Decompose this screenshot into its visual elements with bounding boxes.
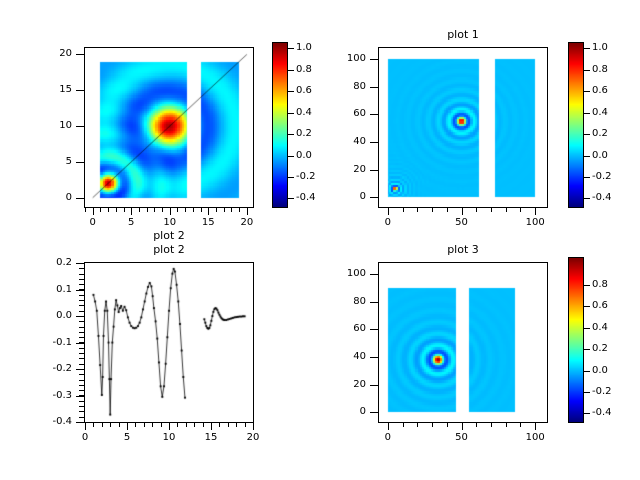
- minor-tick-x: [100, 208, 101, 212]
- minor-tick-y: [79, 406, 84, 407]
- minor-tick-y: [79, 311, 84, 312]
- colorbar-tick-label: 0.4: [592, 322, 608, 333]
- colorbar-tick: [584, 306, 590, 307]
- minor-tick-x: [85, 208, 86, 212]
- minor-tick-x: [216, 208, 217, 212]
- minor-tick-x: [228, 423, 229, 427]
- colorbar-tick-label: -0.4: [296, 192, 316, 203]
- colorbar-tick-label: -0.2: [592, 386, 612, 397]
- y-tick-label: -0.3: [32, 390, 72, 401]
- major-tick-y: [76, 343, 84, 344]
- colorbar-top-right: [568, 42, 584, 208]
- major-tick-y: [76, 263, 84, 264]
- major-tick-y: [370, 329, 378, 330]
- x-tick-label: 10: [149, 432, 189, 443]
- minor-tick-y: [79, 337, 84, 338]
- colorbar-top-left: [272, 42, 288, 208]
- minor-tick-y: [79, 401, 84, 402]
- major-tick-y: [370, 302, 378, 303]
- y-tick-label: 60: [326, 108, 366, 119]
- minor-tick-x: [186, 423, 187, 427]
- major-tick-x: [170, 208, 171, 215]
- minor-tick-y: [79, 364, 84, 365]
- minor-tick-x: [245, 423, 246, 427]
- minor-tick-x: [447, 208, 448, 212]
- minor-tick-x: [203, 423, 204, 427]
- y-tick-label: 0.2: [32, 257, 72, 268]
- minor-tick-y: [79, 348, 84, 349]
- minor-tick-x: [144, 423, 145, 427]
- minor-tick-y: [79, 358, 84, 359]
- line-chart-bottom-left: [85, 263, 253, 422]
- colorbar-tick-label: 0.0: [592, 365, 608, 376]
- minor-tick-y: [79, 411, 84, 412]
- x-tick-label: 0: [73, 217, 113, 228]
- minor-tick-x: [219, 423, 220, 427]
- colorbar-tick-label: 0.4: [296, 107, 312, 118]
- minor-tick-x: [147, 208, 148, 212]
- major-tick-y: [370, 87, 378, 88]
- minor-tick-x: [201, 208, 202, 212]
- colorbar-tick: [584, 349, 590, 350]
- major-tick-x: [127, 423, 128, 430]
- colorbar-tick: [584, 91, 590, 92]
- y-tick-label: 60: [326, 323, 366, 334]
- x-tick-label: 20: [233, 432, 273, 443]
- major-tick-y: [76, 54, 84, 55]
- colorbar-tick-label: 0.6: [592, 300, 608, 311]
- colorbar-tick: [584, 392, 590, 393]
- y-tick-label: 100: [326, 53, 366, 64]
- minor-tick-y: [79, 279, 84, 280]
- major-tick-y: [370, 170, 378, 171]
- minor-tick-y: [79, 390, 84, 391]
- minor-tick-x: [177, 208, 178, 212]
- colorbar-tick-label: 1.0: [592, 42, 608, 53]
- axes-frame-bottom-right: [378, 262, 548, 423]
- y-tick-label: 40: [326, 136, 366, 147]
- major-tick-y: [76, 90, 84, 91]
- minor-tick-x: [506, 208, 507, 212]
- major-tick-y: [76, 162, 84, 163]
- minor-tick-y: [79, 284, 84, 285]
- y-tick-label: -0.2: [32, 363, 72, 374]
- major-tick-x: [535, 423, 536, 430]
- minor-tick-y: [79, 385, 84, 386]
- x-tick-label: 50: [442, 217, 482, 228]
- minor-tick-y: [79, 332, 84, 333]
- minor-tick-x: [154, 208, 155, 212]
- colorbar-tick-label: 0.8: [592, 279, 608, 290]
- colorbar-tick-label: 0.2: [592, 128, 608, 139]
- colorbar-tick-label: -0.2: [592, 171, 612, 182]
- axes-frame-bottom-left: [84, 262, 254, 423]
- minor-tick-y: [79, 321, 84, 322]
- colorbar-tick: [288, 134, 294, 135]
- minor-tick-x: [194, 423, 195, 427]
- x-tick-label: 5: [107, 432, 147, 443]
- minor-tick-x: [116, 208, 117, 212]
- colorbar-tick: [288, 48, 294, 49]
- major-tick-x: [462, 423, 463, 430]
- colorbar-tick-label: 0.8: [296, 64, 312, 75]
- y-tick-label: 0: [326, 191, 366, 202]
- major-tick-y: [370, 274, 378, 275]
- major-tick-y: [76, 369, 84, 370]
- colorbar-tick: [288, 177, 294, 178]
- minor-tick-x: [93, 423, 94, 427]
- minor-tick-x: [231, 208, 232, 212]
- colorbar-tick: [584, 177, 590, 178]
- x-tick-label: 0: [368, 432, 408, 443]
- y-tick-label: 15: [32, 84, 72, 95]
- major-tick-y: [76, 422, 84, 423]
- colorbar-tick: [584, 371, 590, 372]
- major-tick-x: [85, 423, 86, 430]
- minor-tick-x: [491, 208, 492, 212]
- colorbar-tick: [584, 413, 590, 414]
- minor-tick-x: [119, 423, 120, 427]
- x-tick-label: 0: [368, 217, 408, 228]
- major-tick-x: [208, 208, 209, 215]
- colorbar-tick-label: 0.6: [592, 85, 608, 96]
- minor-tick-y: [79, 380, 84, 381]
- minor-tick-x: [417, 208, 418, 212]
- colorbar-tick-label: 0.4: [592, 107, 608, 118]
- major-tick-x: [253, 423, 254, 430]
- major-tick-x: [462, 208, 463, 215]
- x-tick-label: 0: [65, 432, 105, 443]
- y-tick-label: 80: [326, 296, 366, 307]
- colorbar-tick-label: 0.2: [592, 343, 608, 354]
- y-tick-label: 10: [32, 120, 72, 131]
- y-tick-label: 20: [32, 48, 72, 59]
- panel-top-right: 050100020406080100 plot 1 1.00.80.60.40.…: [320, 0, 640, 240]
- minor-tick-y: [79, 295, 84, 296]
- colorbar-tick-label: 1.0: [296, 42, 312, 53]
- minor-tick-x: [506, 423, 507, 427]
- y-tick-label: 0: [326, 406, 366, 417]
- major-tick-y: [76, 198, 84, 199]
- minor-tick-x: [520, 208, 521, 212]
- y-tick-label: -0.4: [32, 416, 72, 427]
- colorbar-tick: [584, 328, 590, 329]
- minor-tick-x: [520, 423, 521, 427]
- minor-tick-x: [177, 423, 178, 427]
- major-tick-x: [388, 423, 389, 430]
- y-tick-label: -0.1: [32, 337, 72, 348]
- minor-tick-y: [79, 417, 84, 418]
- colorbar-tick: [288, 91, 294, 92]
- minor-tick-y: [79, 300, 84, 301]
- minor-tick-x: [152, 423, 153, 427]
- y-tick-label: 20: [326, 164, 366, 175]
- x-tick-label: 100: [515, 217, 555, 228]
- major-tick-y: [76, 290, 84, 291]
- colorbar-bottom-right: [568, 257, 584, 423]
- colorbar-tick: [288, 198, 294, 199]
- colorbar-tick-label: 0.2: [296, 128, 312, 139]
- heatmap-image-top-right: [379, 48, 547, 207]
- panel-bottom-left: 051015200.20.10.0-0.1-0.2-0.3-0.4 plot 2: [0, 240, 320, 480]
- minor-tick-x: [239, 208, 240, 212]
- minor-tick-x: [476, 208, 477, 212]
- minor-tick-x: [110, 423, 111, 427]
- y-tick-label: 0.1: [32, 284, 72, 295]
- y-tick-label: 20: [326, 379, 366, 390]
- minor-tick-x: [193, 208, 194, 212]
- panel-top-left: 0510152005101520 plot 2 1.00.80.60.40.20…: [0, 0, 320, 240]
- major-tick-x: [535, 208, 536, 215]
- heatmap-image-bottom-right: [379, 263, 547, 422]
- y-tick-label: 100: [326, 268, 366, 279]
- figure-canvas: 0510152005101520 plot 2 1.00.80.60.40.20…: [0, 0, 640, 480]
- panel-bottom-right: 050100020406080100 plot 3 0.80.60.40.20.…: [320, 240, 640, 480]
- x-tick-label: 50: [442, 432, 482, 443]
- x-tick-label: 10: [150, 217, 190, 228]
- colorbar-tick: [584, 156, 590, 157]
- minor-tick-x: [161, 423, 162, 427]
- colorbar-tick: [584, 134, 590, 135]
- major-tick-y: [370, 412, 378, 413]
- x-tick-label: 15: [191, 432, 231, 443]
- plot-title-bottom-right: plot 3: [378, 243, 548, 256]
- minor-tick-x: [135, 423, 136, 427]
- major-tick-y: [370, 142, 378, 143]
- major-tick-y: [370, 59, 378, 60]
- minor-tick-x: [403, 208, 404, 212]
- minor-tick-x: [432, 423, 433, 427]
- colorbar-tick: [584, 113, 590, 114]
- heatmap-image-top-left: [85, 48, 253, 207]
- major-tick-x: [131, 208, 132, 215]
- minor-tick-x: [139, 208, 140, 212]
- major-tick-y: [76, 396, 84, 397]
- plot-title-top-right: plot 1: [378, 28, 548, 41]
- minor-tick-x: [417, 423, 418, 427]
- x-tick-label: 20: [227, 217, 267, 228]
- minor-tick-x: [108, 208, 109, 212]
- minor-tick-y: [79, 353, 84, 354]
- major-tick-y: [370, 357, 378, 358]
- axes-frame-top-right: [378, 47, 548, 208]
- colorbar-tick: [288, 113, 294, 114]
- minor-tick-x: [236, 423, 237, 427]
- major-tick-y: [370, 114, 378, 115]
- minor-tick-x: [124, 208, 125, 212]
- minor-tick-y: [79, 327, 84, 328]
- minor-tick-y: [79, 305, 84, 306]
- colorbar-tick-label: 0.0: [296, 150, 312, 161]
- y-tick-label: 5: [32, 156, 72, 167]
- minor-tick-y: [79, 268, 84, 269]
- colorbar-tick: [584, 70, 590, 71]
- minor-tick-x: [102, 423, 103, 427]
- major-tick-x: [388, 208, 389, 215]
- colorbar-tick: [584, 285, 590, 286]
- colorbar-tick-label: 0.8: [592, 64, 608, 75]
- minor-tick-x: [447, 423, 448, 427]
- colorbar-tick: [584, 48, 590, 49]
- colorbar-tick: [288, 156, 294, 157]
- x-tick-label: 5: [111, 217, 151, 228]
- minor-tick-x: [162, 208, 163, 212]
- minor-tick-y: [79, 274, 84, 275]
- minor-tick-x: [476, 423, 477, 427]
- colorbar-tick-label: 0.0: [592, 150, 608, 161]
- axes-frame-top-left: [84, 47, 254, 208]
- minor-tick-x: [432, 208, 433, 212]
- x-tick-label: 15: [188, 217, 228, 228]
- y-tick-label: 0: [32, 192, 72, 203]
- major-tick-y: [370, 385, 378, 386]
- colorbar-tick-label: 0.6: [296, 85, 312, 96]
- major-tick-y: [370, 197, 378, 198]
- minor-tick-x: [403, 423, 404, 427]
- minor-tick-x: [491, 423, 492, 427]
- colorbar-tick: [288, 70, 294, 71]
- colorbar-tick: [584, 198, 590, 199]
- colorbar-tick-label: -0.4: [592, 407, 612, 418]
- colorbar-tick-label: -0.4: [592, 192, 612, 203]
- major-tick-x: [247, 208, 248, 215]
- minor-tick-x: [185, 208, 186, 212]
- plot-title-bottom-left: plot 2: [84, 243, 254, 256]
- major-tick-x: [169, 423, 170, 430]
- y-tick-label: 0.0: [32, 310, 72, 321]
- major-tick-x: [93, 208, 94, 215]
- major-tick-y: [76, 126, 84, 127]
- colorbar-tick-label: -0.2: [296, 171, 316, 182]
- major-tick-y: [76, 316, 84, 317]
- major-tick-x: [211, 423, 212, 430]
- y-tick-label: 40: [326, 351, 366, 362]
- minor-tick-y: [79, 374, 84, 375]
- y-tick-label: 80: [326, 81, 366, 92]
- minor-tick-x: [224, 208, 225, 212]
- x-tick-label: 100: [515, 432, 555, 443]
